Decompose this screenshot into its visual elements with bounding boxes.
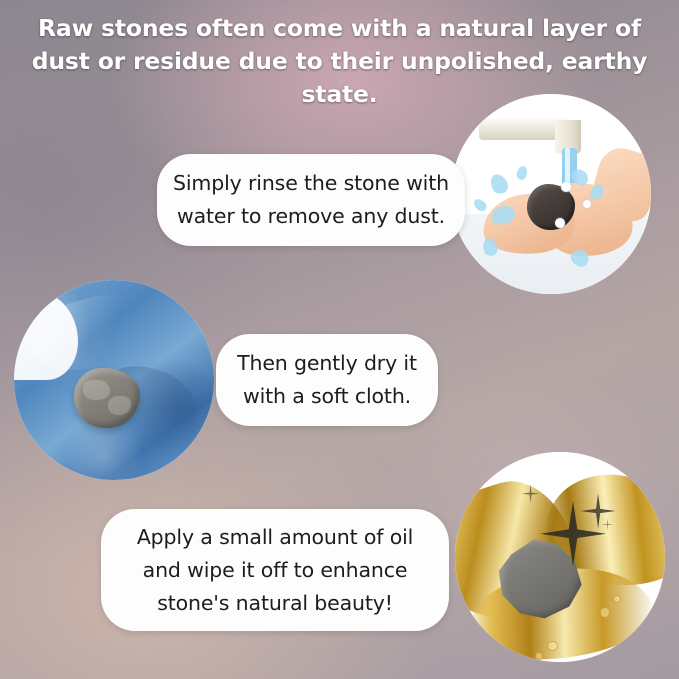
step-image-cloth — [14, 280, 214, 480]
step-card-oil: Apply a small amount of oil and wipe it … — [101, 509, 449, 631]
foam-bubble — [561, 182, 571, 192]
step-image-rinse — [451, 94, 651, 294]
infographic-poster: Raw stones often come with a natural lay… — [0, 0, 679, 679]
oil-bead — [535, 652, 543, 660]
stone-facet — [108, 396, 130, 415]
stone-facet — [83, 380, 109, 400]
step-image-oil — [455, 452, 665, 662]
step-caption-rinse: Simply rinse the stone with water to rem… — [157, 167, 465, 233]
foam-bubble — [555, 218, 565, 228]
step-caption-dry: Then gently dry it with a soft cloth. — [216, 347, 438, 413]
foam-bubble — [583, 200, 591, 208]
oil-bead — [600, 607, 610, 617]
step-card-dry: Then gently dry it with a soft cloth. — [216, 334, 438, 426]
step-card-rinse: Simply rinse the stone with water to rem… — [157, 154, 465, 246]
oil-bead — [613, 595, 621, 603]
step-caption-oil: Apply a small amount of oil and wipe it … — [101, 521, 449, 620]
